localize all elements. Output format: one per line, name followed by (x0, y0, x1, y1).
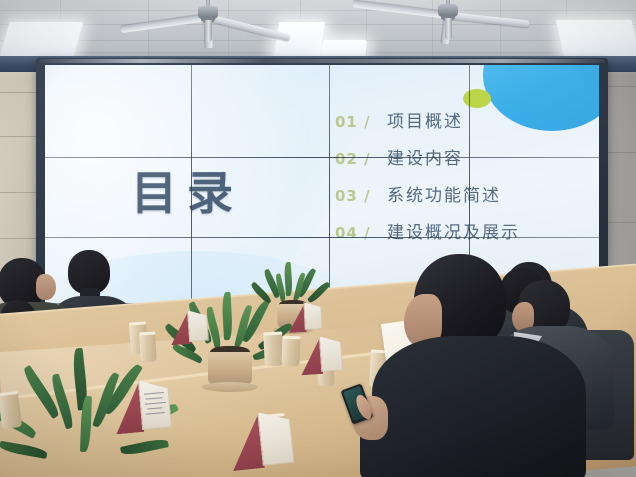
toc-label: 建设概况及展示 (387, 218, 520, 243)
attendee-right-foreground (396, 254, 586, 477)
panel-seam-horizontal (45, 157, 599, 158)
toc-number: 01 / (335, 113, 387, 131)
panel-seam-horizontal (45, 237, 599, 238)
plant-pot (208, 352, 252, 384)
attendee-face (36, 274, 56, 300)
toc-number: 04 / (335, 224, 387, 242)
name-card[interactable] (287, 301, 323, 333)
paper-cup[interactable] (281, 336, 300, 367)
toc-item-02: 02 / 建设内容 (335, 144, 585, 179)
name-card[interactable] (112, 378, 172, 435)
ceiling (0, 0, 636, 64)
plant-saucer (202, 382, 258, 392)
toc-item-04: 04 / 建设概况及展示 (335, 218, 585, 253)
toc-item-03: 03 / 系统功能简述 (335, 181, 585, 216)
toc-label: 项目概述 (387, 107, 463, 132)
toc-number: 03 / (335, 187, 387, 205)
decoration-green-ellipse (463, 89, 491, 108)
slide-title: 目录 (131, 157, 243, 223)
name-card[interactable] (169, 309, 209, 346)
name-card[interactable] (227, 409, 295, 471)
ceiling-light-panel (0, 22, 83, 60)
name-card[interactable] (299, 335, 344, 376)
toc-label: 系统功能简述 (387, 181, 501, 206)
paper-cup[interactable] (139, 332, 157, 363)
slide-table-of-contents: 01 / 项目概述 02 / 建设内容 03 / 系统功能简述 04 / 建设概… (335, 107, 585, 255)
meeting-room-photo: 目录 01 / 项目概述 02 / 建设内容 03 / 系统功能简述 04 / … (0, 0, 636, 477)
toc-number: 02 / (335, 150, 387, 168)
toc-item-01: 01 / 项目概述 (335, 107, 585, 142)
ceiling-light-panel (556, 20, 636, 58)
